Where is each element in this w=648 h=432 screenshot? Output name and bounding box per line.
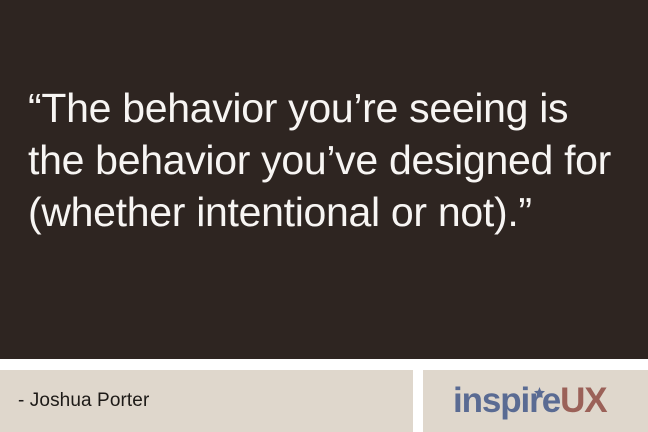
quote-block: “The behavior you’re seeing is the behav… xyxy=(28,82,636,238)
brand-primary-word: inspire xyxy=(453,381,560,420)
brand-panel: inspireUX xyxy=(423,370,648,432)
quote-line-2: the behavior you’ve designed for xyxy=(28,134,636,186)
panel-divider xyxy=(413,370,423,432)
attribution-text: - Joshua Porter xyxy=(18,390,149,412)
quote-line-1: “The behavior you’re seeing is xyxy=(28,82,636,134)
quote-slide: “The behavior you’re seeing is the behav… xyxy=(0,0,648,432)
quote-stage: “The behavior you’re seeing is the behav… xyxy=(0,0,648,359)
brand-secondary-word: UX xyxy=(560,381,606,420)
quote-line-3: (whether intentional or not).” xyxy=(28,186,636,238)
bottom-bar: - Joshua Porter inspireUX xyxy=(0,359,648,432)
brand-logo[interactable]: inspireUX xyxy=(453,381,606,421)
attribution-panel: - Joshua Porter xyxy=(0,370,413,432)
